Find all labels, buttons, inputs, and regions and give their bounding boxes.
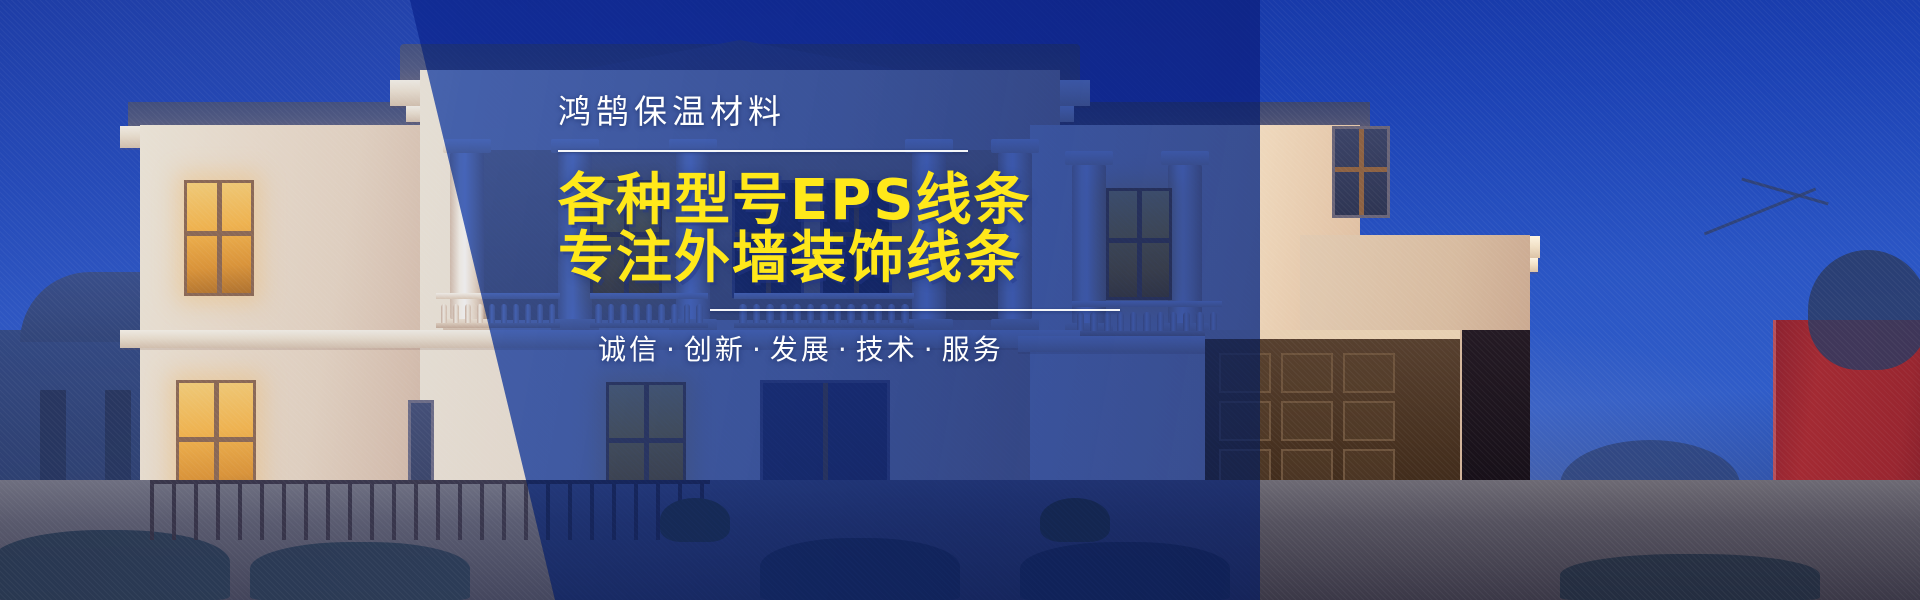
hedge <box>1560 554 1820 600</box>
divider-bottom <box>710 309 1120 311</box>
headline-line-1: 各种型号EPS线条 <box>558 168 1032 233</box>
tree <box>1808 250 1920 370</box>
company-name: 鸿鹄保温材料 <box>558 95 1278 128</box>
tagline-item: 创新 <box>684 333 746 366</box>
window <box>1332 126 1390 218</box>
headline-line-2: 专注外墙装饰线条 <box>558 230 1278 288</box>
tagline-item: 诚信 <box>598 333 660 366</box>
tagline-separator: · <box>746 333 770 366</box>
tagline-item: 发展 <box>770 333 832 366</box>
headline: 各种型号EPS线条 专注外墙装饰线条 <box>558 172 1278 287</box>
tagline-separator: · <box>832 333 856 366</box>
tagline-item: 技术 <box>856 333 918 366</box>
tagline-separator: · <box>918 333 942 366</box>
tagline: 诚信·创新·发展·技术·服务 <box>598 328 1278 368</box>
divider-top <box>558 150 968 152</box>
banner-copy: 鸿鹄保温材料 各种型号EPS线条 专注外墙装饰线条 诚信·创新·发展·技术·服务 <box>558 95 1278 395</box>
tagline-item: 服务 <box>942 333 1004 366</box>
promo-banner: 鸿鹄保温材料 各种型号EPS线条 专注外墙装饰线条 诚信·创新·发展·技术·服务 <box>0 0 1920 600</box>
tagline-separator: · <box>660 333 684 366</box>
